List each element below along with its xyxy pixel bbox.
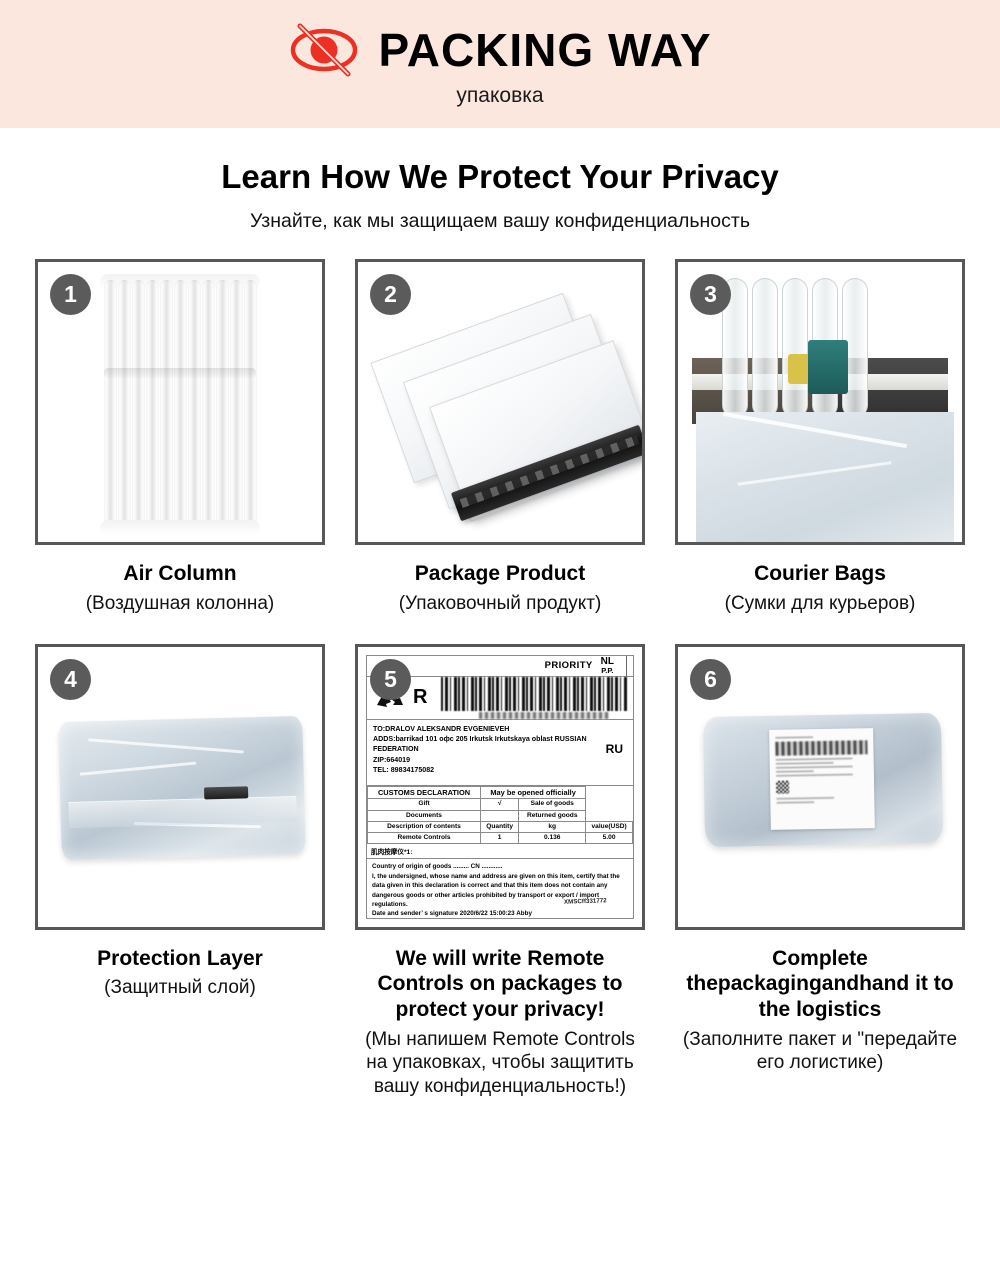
address-tel: TEL: 89834175082 [373, 766, 434, 774]
cell-blank [481, 810, 519, 821]
brand-row: PACKING WAY [288, 22, 711, 78]
barcode [441, 677, 627, 711]
step-caption-en-2: Package Product [359, 561, 641, 587]
package-shipping-label [769, 728, 875, 830]
table-row: Remote Controls 1 0.136 5.00 [368, 833, 633, 844]
origin-dots-2: ............ [482, 863, 503, 870]
step-caption-ru-1: (Воздушная колонна) [39, 592, 321, 616]
label-divider [626, 656, 627, 676]
step-image-frame-1: 1 [35, 259, 325, 545]
steps-grid-row-1: 1 [35, 259, 965, 615]
may-be-opened: May be opened officially [481, 787, 586, 799]
cell-checkmark: √ [481, 799, 519, 810]
step-image-frame-3: 3 [675, 259, 965, 545]
address-zip: ZIP:664019 [373, 756, 410, 764]
step-card-6: 6 [675, 644, 965, 1099]
table-row: Gift √ Sale of goods [368, 799, 633, 810]
cell-returned-goods: Returned goods [519, 810, 586, 821]
step-caption-en-5: We will write Remote Controls on package… [359, 946, 641, 1023]
col-description: Description of contents [368, 821, 481, 832]
col-value: value(USD) [586, 821, 633, 832]
step-caption-ru-2: (Упаковочный продукт) [359, 592, 641, 616]
table-row: Documents Returned goods [368, 810, 633, 821]
step-card-3: 3 Courier Bags (Сумки для курьеро [675, 259, 965, 615]
step-image-frame-6: 6 [675, 644, 965, 930]
cell-item-qty: 1 [481, 833, 519, 844]
destination-country-code: RU [606, 742, 627, 756]
step-card-5: 5 PRIORITY NL P.P. [355, 644, 645, 1099]
eye-off-icon [288, 22, 360, 78]
brand-subtitle: упаковка [456, 85, 543, 106]
origin-dots: ......... [453, 863, 471, 870]
cell-item-value: 5.00 [586, 833, 633, 844]
step-badge-5: 5 [370, 659, 411, 700]
table-row: Description of contents Quantity kg valu… [368, 821, 633, 832]
cell-item-kg: 0.136 [519, 833, 586, 844]
steps-grid-row-2: 4 Protection Layer (Защитный слой) 5 [35, 644, 965, 1099]
brand-title: PACKING WAY [378, 27, 711, 73]
cell-item-desc: Remote Controls [368, 833, 481, 844]
page-subtitle: Узнайте, как мы защищаем вашу конфиденци… [0, 210, 1000, 233]
label-fine-print: Country of origin of goods ......... CN … [367, 859, 633, 922]
step-caption-1: Air Column (Воздушная колонна) [35, 545, 325, 615]
recycle-letter: R [413, 686, 427, 709]
step-caption-ru-6: (Заполните пакет и "передайте его логист… [679, 1028, 961, 1076]
label-pp: P.P. [601, 667, 614, 675]
step-caption-ru-3: (Сумки для курьеров) [679, 592, 961, 616]
origin-label: Country of origin of goods [372, 863, 451, 870]
barcode-number [479, 712, 609, 719]
table-row: CUSTOMS DECLARATION May be opened offici… [368, 787, 633, 799]
page-title: Learn How We Protect Your Privacy [0, 158, 1000, 196]
step-image-frame-5: 5 PRIORITY NL P.P. [355, 644, 645, 930]
recipient-name: TO:DRALOV ALEKSANDR EVGENIEVEH [373, 725, 509, 733]
step-caption-2: Package Product (Упаковочный продукт) [355, 545, 645, 615]
label-country-top: NL P.P. [601, 657, 614, 675]
label-stamp-code: XMSCff331772 [564, 896, 607, 907]
step-badge-6: 6 [690, 659, 731, 700]
step-caption-en-4: Protection Layer [39, 946, 321, 972]
step-card-4: 4 Protection Layer (Защитный слой) [35, 644, 325, 1099]
step-caption-en-1: Air Column [39, 561, 321, 587]
address-line-1: ADDS:barrikad 101 офс 205 Irkutsk Irkuts… [373, 735, 587, 743]
step-image-frame-2: 2 [355, 259, 645, 545]
header-band: PACKING WAY упаковка [0, 0, 1000, 128]
step-caption-4: Protection Layer (Защитный слой) [35, 930, 325, 1000]
label-address-block: TO:DRALOV ALEKSANDR EVGENIEVEH ADDS:barr… [367, 720, 633, 786]
col-quantity: Quantity [481, 821, 519, 832]
step-caption-en-6: Complete thepackagingandhand it to the l… [679, 946, 961, 1023]
label-priority-text: PRIORITY [545, 660, 593, 671]
customs-title: CUSTOMS DECLARATION [368, 787, 481, 799]
cell-documents: Documents [368, 810, 481, 821]
cell-sale-of-goods: Sale of goods [519, 799, 586, 810]
address-text: TO:DRALOV ALEKSANDR EVGENIEVEH ADDS:barr… [373, 724, 600, 775]
step-card-1: 1 [35, 259, 325, 615]
customs-declaration-table: CUSTOMS DECLARATION May be opened offici… [367, 786, 633, 844]
address-line-2: FEDERATION [373, 745, 419, 753]
shipping-label: PRIORITY NL P.P. [366, 655, 634, 919]
titles-block: Learn How We Protect Your Privacy Узнайт… [0, 128, 1000, 233]
step-caption-ru-4: (Защитный слой) [39, 976, 321, 1000]
step-caption-en-3: Courier Bags [679, 561, 961, 587]
col-kg: kg [519, 821, 586, 832]
step-caption-ru-5: (Мы напишем Remote Controls на упаковках… [359, 1028, 641, 1099]
step-image-frame-4: 4 [35, 644, 325, 930]
cn-item-note: 肌肉按摩仪*1: [367, 844, 633, 859]
step-caption-3: Courier Bags (Сумки для курьеров) [675, 545, 965, 615]
cell-gift: Gift [368, 799, 481, 810]
step-card-2: 2 Package Product (Упаковочный продукт) [355, 259, 645, 615]
step-caption-6: Complete thepackagingandhand it to the l… [675, 930, 965, 1075]
signature-line: Date and sender’ s signature 2020/6/22 1… [372, 910, 532, 917]
step-badge-4: 4 [50, 659, 91, 700]
step-caption-5: We will write Remote Controls on package… [355, 930, 645, 1099]
origin-value: CN [471, 863, 480, 870]
